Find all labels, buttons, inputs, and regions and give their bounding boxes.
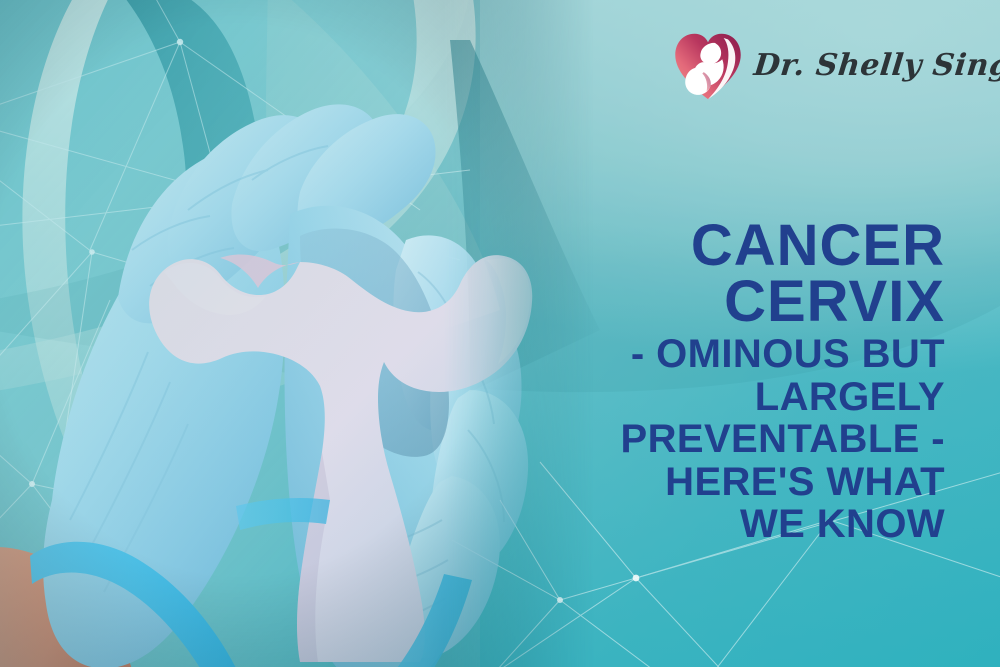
network-node <box>633 575 640 582</box>
headline-line-3: - OMINOUS BUT <box>525 335 945 373</box>
headline-line-2: CERVIX <box>525 274 945 330</box>
hero-photo <box>0 0 600 667</box>
brand-name: Dr. Shelly Singh <box>752 48 1000 83</box>
headline-line-6: HERE'S WHAT <box>525 463 945 501</box>
gloved-hands-holding-paper-uterus-illustration <box>0 0 600 667</box>
headline-line-5: PREVENTABLE - <box>525 420 945 458</box>
headline-line-4: LARGELY <box>525 378 945 416</box>
heart-mother-child-icon <box>672 28 744 102</box>
headline-line-7: WE KNOW <box>525 505 945 543</box>
headline-line-1: CANCER <box>525 218 945 274</box>
photo-vignette <box>0 0 600 667</box>
headline: CANCER CERVIX - OMINOUS BUT LARGELY PREV… <box>525 218 945 543</box>
brand-logo[interactable]: Dr. Shelly Singh <box>672 28 1000 102</box>
banner-canvas: Dr. Shelly Singh CANCER CERVIX - OMINOUS… <box>0 0 1000 667</box>
